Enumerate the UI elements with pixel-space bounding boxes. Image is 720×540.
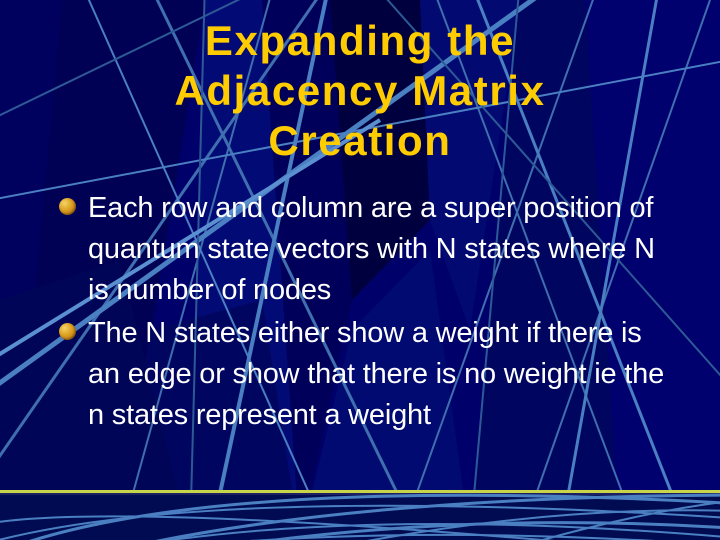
bullet-item-text: Each row and column are a super position…: [88, 192, 655, 306]
gold-sphere-bullet-icon: [59, 323, 76, 340]
slide-title: Expanding the Adjacency Matrix Creation: [40, 16, 680, 166]
bullet-item: Each row and column are a super position…: [56, 188, 676, 311]
slide-title-line-1: Expanding the: [40, 16, 680, 66]
slide-title-line-3: Creation: [40, 116, 680, 166]
slide-title-line-2: Adjacency Matrix: [40, 66, 680, 116]
bullet-item: The N states either show a weight if the…: [56, 313, 676, 436]
gold-sphere-bullet-icon: [59, 198, 76, 215]
presentation-slide: Expanding the Adjacency Matrix Creation …: [0, 0, 720, 540]
slide-body-content: Each row and column are a super position…: [56, 188, 676, 438]
bullet-item-text: The N states either show a weight if the…: [88, 317, 664, 431]
